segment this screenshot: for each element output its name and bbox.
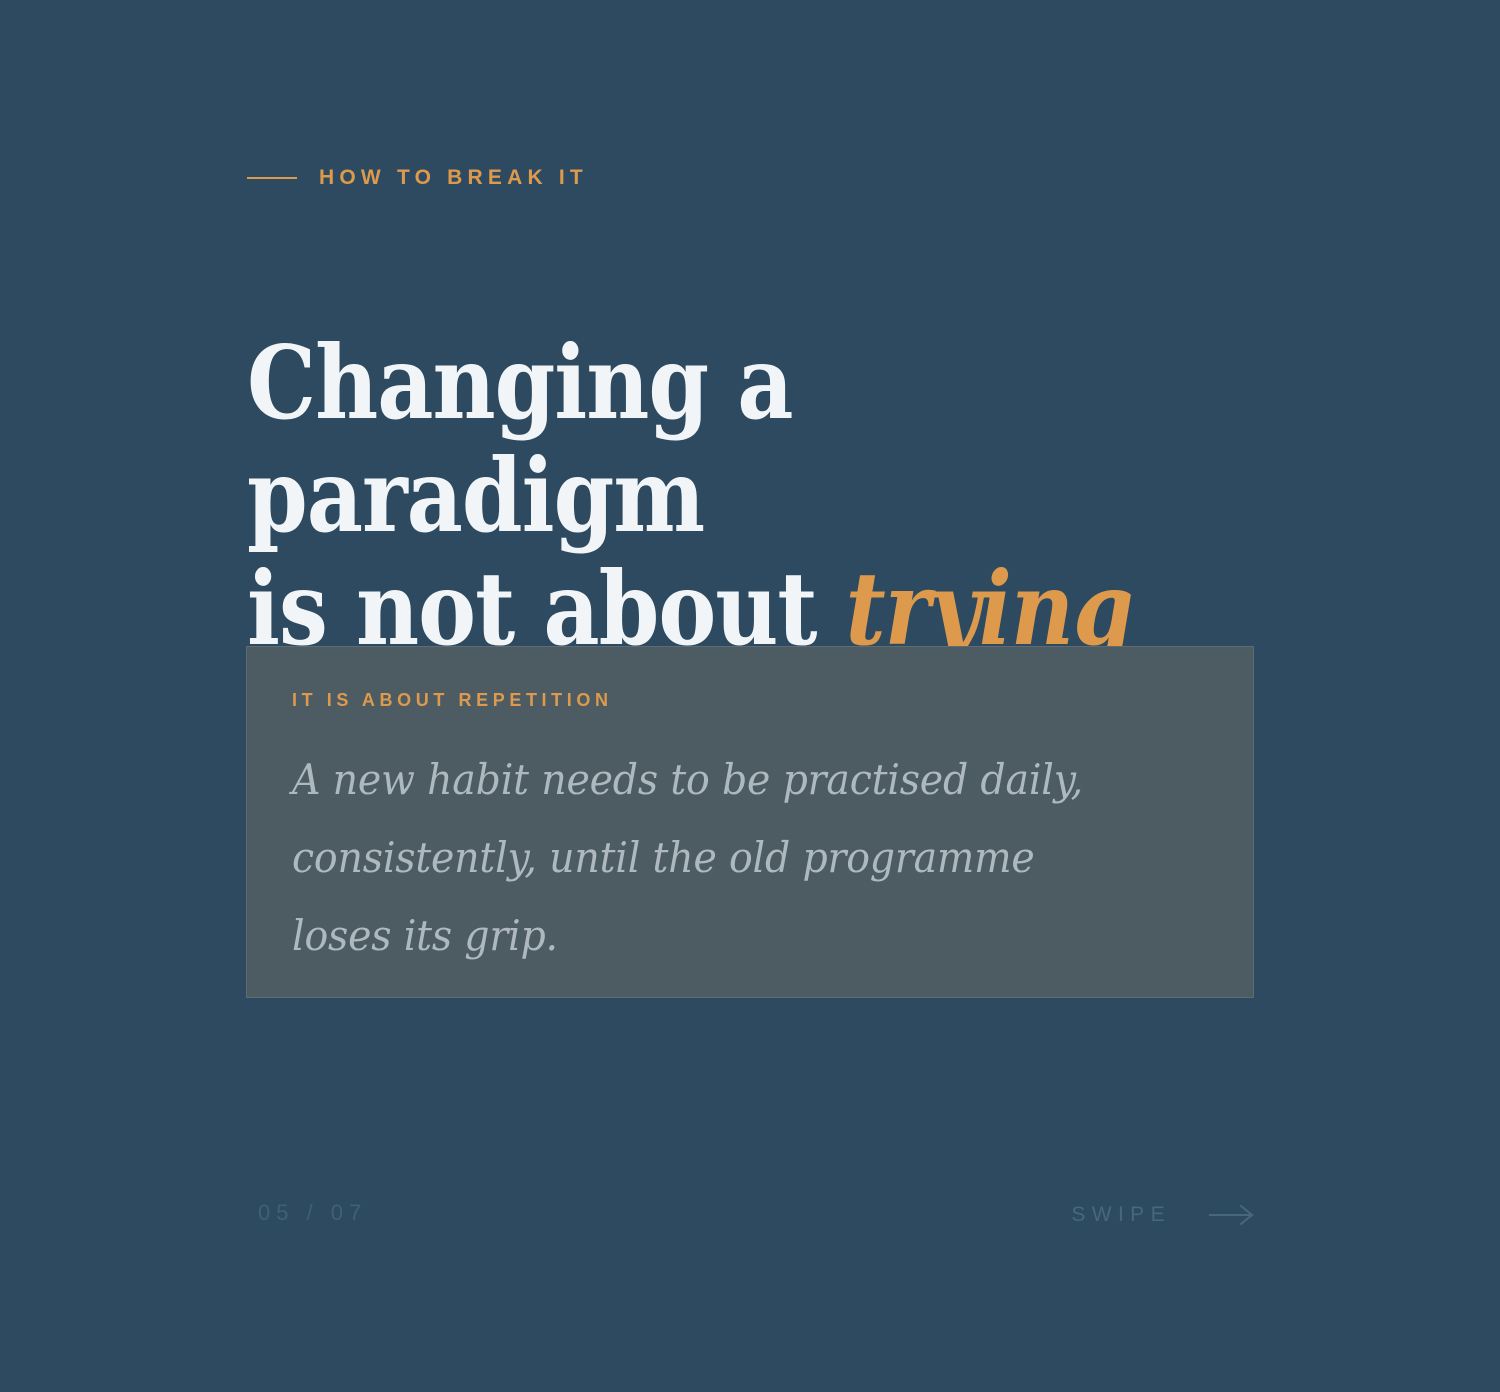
slide-root: HOW TO BREAK IT Changing a paradigm is n…	[0, 0, 1500, 1392]
headline-line-1: Changing a paradigm	[247, 323, 793, 555]
arrow-right-icon	[1209, 1204, 1255, 1226]
eyebrow: HOW TO BREAK IT	[247, 166, 588, 190]
eyebrow-label: HOW TO BREAK IT	[319, 166, 588, 190]
card-label: IT IS ABOUT REPETITION	[292, 690, 613, 711]
swipe-indicator[interactable]: SWIPE	[1071, 1203, 1255, 1227]
page-counter: 05 / 07	[258, 1200, 367, 1226]
swipe-label: SWIPE	[1071, 1203, 1171, 1227]
card-body-text: A new habit needs to be practised daily,…	[292, 741, 1143, 975]
horizontal-rule-icon	[247, 177, 297, 179]
highlight-card: IT IS ABOUT REPETITION A new habit needs…	[246, 646, 1254, 998]
